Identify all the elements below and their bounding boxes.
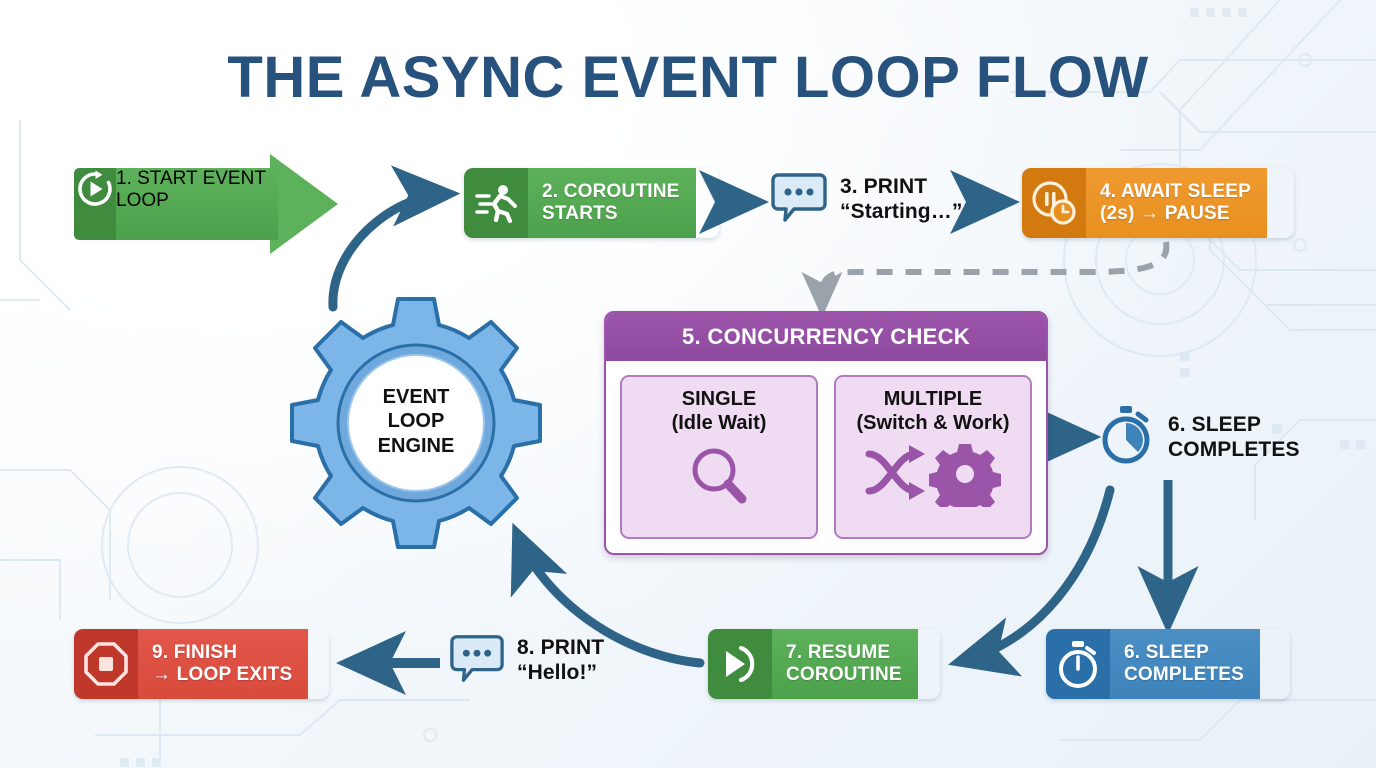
step-6-sleep-completes-plain[interactable]: 6. SLEEP COMPLETES: [1096, 404, 1300, 471]
magnifier-icon: [684, 441, 754, 516]
step-4-await-sleep[interactable]: 4. AWAIT SLEEP (2s) → PAUSE: [1022, 168, 1294, 238]
restart-play-icon: [74, 168, 116, 240]
step-9-label: 9. FINISH → LOOP EXITS: [138, 629, 308, 699]
diagram-canvas: THE ASYNC EVENT LOOP FLOW 1. START EVENT…: [0, 0, 1376, 768]
option-multiple-switch-work[interactable]: MULTIPLE (Switch & Work): [834, 375, 1032, 539]
option-single-label: SINGLE (Idle Wait): [672, 387, 767, 435]
step-5-concurrency-check-panel[interactable]: 5. CONCURRENCY CHECK SINGLE (Idle Wait) …: [604, 311, 1048, 555]
speech-bubble-icon: [449, 630, 505, 691]
step-3-print-starting[interactable]: 3. PRINT “Starting…”: [770, 168, 962, 231]
event-loop-engine-label: EVENT LOOP ENGINE: [345, 385, 487, 458]
step-2-label: 2. COROUTINE STARTS: [528, 168, 696, 238]
stop-octagon-icon: [74, 629, 138, 699]
step-2-coroutine-starts[interactable]: 2. COROUTINE STARTS: [464, 168, 719, 238]
option-multiple-label: MULTIPLE (Switch & Work): [857, 387, 1010, 435]
step-7-resume-coroutine[interactable]: 7. RESUME COROUTINE: [708, 629, 940, 699]
step-5-label: 5. CONCURRENCY CHECK: [606, 313, 1046, 361]
step-1-start-event-loop[interactable]: 1. START EVENT LOOP: [74, 168, 338, 240]
step-8-label: 8. PRINT “Hello!”: [517, 636, 604, 686]
page-title: THE ASYNC EVENT LOOP FLOW: [0, 44, 1376, 111]
speech-bubble-icon: [770, 168, 828, 231]
step-1-label: 1. START EVENT LOOP: [116, 168, 278, 240]
resume-play-icon: [708, 629, 772, 699]
step-6-box-label: 6. SLEEP COMPLETES: [1110, 629, 1260, 699]
stopwatch-icon: [1096, 404, 1156, 471]
stopwatch-icon: [1046, 629, 1110, 699]
step-6-plain-label: 6. SLEEP COMPLETES: [1168, 413, 1300, 463]
step-7-label: 7. RESUME COROUTINE: [772, 629, 918, 699]
step-3-label: 3. PRINT “Starting…”: [840, 175, 962, 225]
step-8-print-hello[interactable]: 8. PRINT “Hello!”: [449, 630, 604, 691]
option-single-idle-wait[interactable]: SINGLE (Idle Wait): [620, 375, 818, 539]
pause-clock-icon: [1022, 168, 1086, 238]
step-9-finish-loop-exits[interactable]: 9. FINISH → LOOP EXITS: [74, 629, 329, 699]
shuffle-gear-icon: [863, 441, 1003, 512]
step-4-label: 4. AWAIT SLEEP (2s) → PAUSE: [1086, 168, 1267, 238]
arrow-head-shape: [270, 154, 338, 254]
running-person-icon: [464, 168, 528, 238]
step-6-sleep-completes-box[interactable]: 6. SLEEP COMPLETES: [1046, 629, 1290, 699]
